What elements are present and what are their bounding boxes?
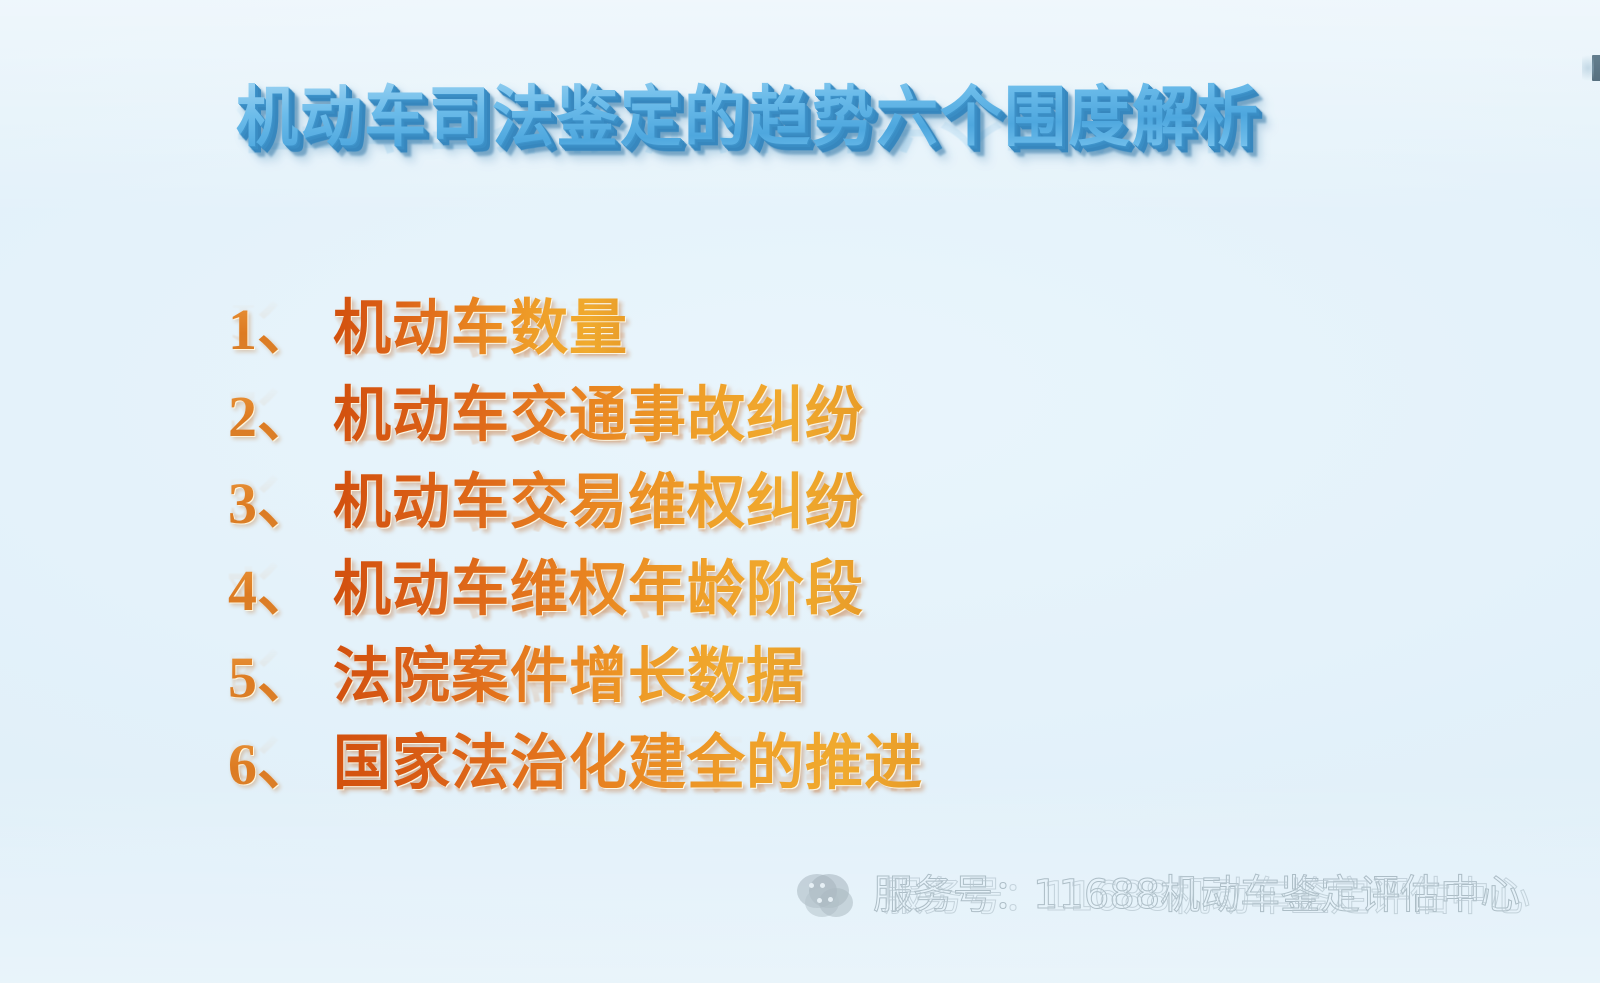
list-item-content: 4、 机动车维权年龄阶段 xyxy=(228,557,864,624)
presentation-slide: 机动车司法鉴定的趋势六个围度解析 机动车司法鉴定的趋势六个围度解析 1、 机动车… xyxy=(0,0,1600,983)
list-item-label: 机动车维权年龄阶段 xyxy=(333,554,864,623)
list-item: 2、 机动车交通事故纠纷 2、 机动车交通事故纠纷 xyxy=(228,383,1408,470)
watermark: 服务号：11688机动车鉴定评估中心 服务号：11688机动车鉴定评估中心 xyxy=(795,868,1520,922)
list-item: 5、 法院案件增长数据 5、 法院案件增长数据 xyxy=(228,644,1408,731)
list-item-number: 1、 xyxy=(228,297,315,363)
outline-list: 1、 机动车数量 1、 机动车数量 2、 机动车交通事故纠纷 2、 机动车交通事… xyxy=(228,296,1408,818)
list-item-label: 机动车数量 xyxy=(333,293,628,362)
list-item-label: 法院案件增长数据 xyxy=(333,641,805,710)
list-item-content: 6、 国家法治化建全的推进 xyxy=(228,731,923,798)
wechat-bubbles-icon xyxy=(795,868,867,922)
list-item-content: 3、 机动车交易维权纠纷 xyxy=(228,470,864,537)
watermark-text-stack: 服务号：11688机动车鉴定评估中心 服务号：11688机动车鉴定评估中心 xyxy=(873,869,1520,921)
list-item: 1、 机动车数量 1、 机动车数量 xyxy=(228,296,1408,383)
list-item-number: 3、 xyxy=(228,471,315,537)
list-item: 3、 机动车交易维权纠纷 3、 机动车交易维权纠纷 xyxy=(228,470,1408,557)
list-item-label: 机动车交通事故纠纷 xyxy=(333,380,864,449)
list-item-number: 6、 xyxy=(228,732,315,798)
list-item: 6、 国家法治化建全的推进 6、 国家法治化建全的推进 xyxy=(228,731,1408,818)
watermark-text-ghost: 服务号：11688机动车鉴定评估中心 xyxy=(883,871,1530,923)
list-item-label: 国家法治化建全的推进 xyxy=(333,728,923,797)
edge-logo-fragment xyxy=(1592,55,1600,81)
list-item-content: 5、 法院案件增长数据 xyxy=(228,644,805,711)
page-title: 机动车司法鉴定的趋势六个围度解析 xyxy=(236,78,1366,156)
list-item-number: 2、 xyxy=(228,384,315,450)
list-item-number: 5、 xyxy=(228,645,315,711)
list-item-number: 4、 xyxy=(228,558,315,624)
list-item-content: 1、 机动车数量 xyxy=(228,296,628,363)
list-item-label: 机动车交易维权纠纷 xyxy=(333,467,864,536)
watermark-text: 服务号：11688机动车鉴定评估中心 xyxy=(873,872,1520,918)
slide-title-block: 机动车司法鉴定的趋势六个围度解析 机动车司法鉴定的趋势六个围度解析 xyxy=(236,78,1366,228)
list-item: 4、 机动车维权年龄阶段 4、 机动车维权年龄阶段 xyxy=(228,557,1408,644)
list-item-content: 2、 机动车交通事故纠纷 xyxy=(228,383,864,450)
